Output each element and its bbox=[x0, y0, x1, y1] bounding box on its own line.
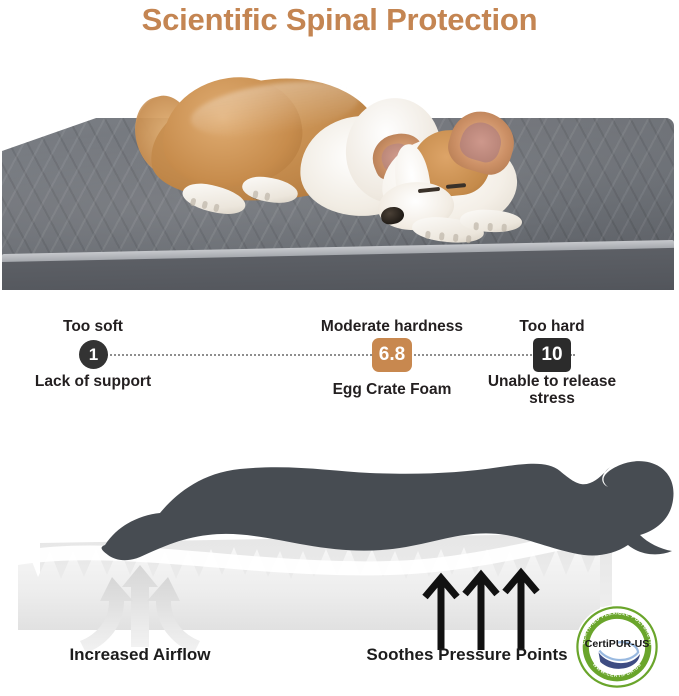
pressure-points-label: Soothes Pressure Points bbox=[332, 645, 602, 665]
hero-product-photo bbox=[0, 40, 679, 290]
scale-value-10-badge: 10 bbox=[533, 338, 571, 372]
scale-value-6-8-badge: 6.8 bbox=[372, 338, 412, 372]
scale-middle-bottom-label: Egg Crate Foam bbox=[292, 381, 492, 398]
scale-right-bottom-label: Unable to release stress bbox=[464, 373, 640, 407]
scale-middle-top-label: Moderate hardness bbox=[292, 318, 492, 335]
certipur-badge-svg: CONTAINS CERTIFIED FLEXIBLE POLYURETHANE… bbox=[573, 603, 661, 691]
hardness-scale-track bbox=[103, 354, 575, 356]
corgi-photo bbox=[150, 78, 570, 263]
certipur-brand-text: CertiPUR-US bbox=[585, 638, 649, 650]
page-title: Scientific Spinal Protection bbox=[0, 0, 679, 42]
scale-left-top-label: Too soft bbox=[13, 318, 173, 335]
scale-right-top-label: Too hard bbox=[472, 318, 632, 335]
scale-value-1-badge: 1 bbox=[79, 340, 108, 369]
airflow-label: Increased Airflow bbox=[10, 645, 270, 665]
certipur-us-badge: CONTAINS CERTIFIED FLEXIBLE POLYURETHANE… bbox=[573, 603, 661, 691]
promo-image-page: Scientific Spinal Protection bbox=[0, 0, 679, 691]
pressure-arrows bbox=[425, 573, 537, 650]
scale-left-bottom-label: Lack of support bbox=[3, 373, 183, 390]
